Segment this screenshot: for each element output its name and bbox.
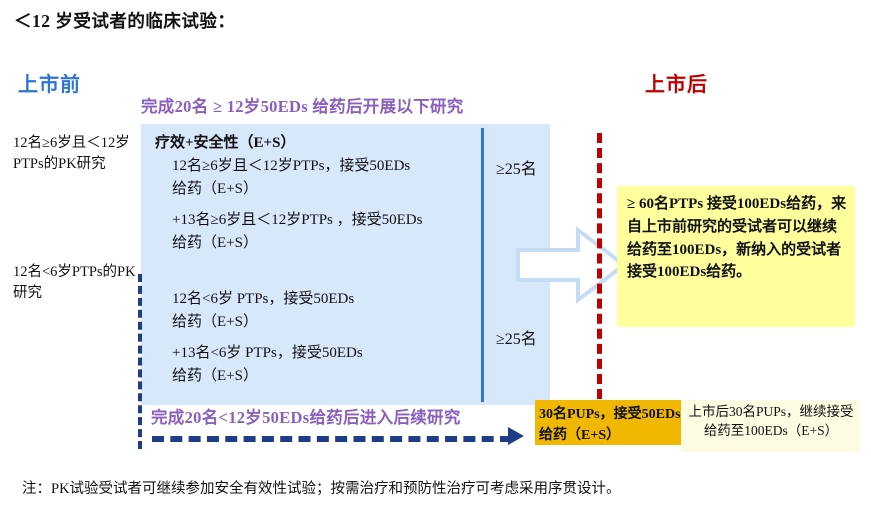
pups-cream-box-text: 上市后30名PUPs，继续接受给药至100EDs（E+S）: [685, 402, 857, 440]
panel-block-4: +13名<6岁 PTPs，接受50EDs给药（E+S）: [172, 342, 363, 388]
stage-label-pre-market: 上市前: [18, 68, 81, 97]
panel-count-1: ≥25名: [496, 155, 537, 179]
right-arrow-icon: [516, 224, 626, 306]
pk-study-label-2: 12名<6岁PTPs的PK研究: [13, 262, 138, 304]
navy-dashed-vertical-line: [138, 274, 142, 449]
slide-canvas: ＜12 岁受试者的临床试验： 上市前 上市后 完成20名 ≥ 12岁50EDs …: [0, 0, 871, 505]
panel-block-3: 12名<6岁 PTPs，接受50EDs给药（E+S）: [172, 288, 354, 334]
footnote-text: 注：PK试验受试者可继续参加安全有效性试验；按需治疗和预防性治疗可考虑采用序贯设…: [22, 477, 621, 498]
purple-heading-bottom: 完成20名<12岁50EDs给药后进入后续研究: [151, 404, 461, 428]
page-title: ＜12 岁受试者的临床试验：: [14, 8, 235, 33]
pk-study-label-1: 12名≥6岁且＜12岁PTPs的PK研究: [13, 133, 138, 175]
panel-block-2: +13名≥6岁且＜12岁PTPs ，接受50EDs给药（E+S）: [172, 209, 422, 255]
bottom-dashed-arrow-head-icon: [508, 427, 524, 445]
red-dashed-vertical-separator: [597, 133, 602, 399]
stage-label-post-market: 上市后: [645, 68, 708, 97]
pups-gold-box-text: 30名PUPs，接受50EDs给药（E+S）: [539, 404, 681, 446]
panel-header-label: 疗效+安全性（E+S）: [155, 131, 295, 152]
purple-heading-top: 完成20名 ≥ 12岁50EDs 给药后开展以下研究: [141, 93, 464, 117]
panel-count-2: ≥25名: [496, 325, 537, 349]
bottom-dashed-arrow-shaft: [152, 436, 512, 442]
panel-vertical-divider: [481, 128, 484, 402]
post-market-box-text: ≥ 60名PTPs 接受100EDs给药，来自上市前研究的受试者可以继续给药至1…: [627, 193, 849, 284]
panel-block-1: 12名≥6岁且＜12岁PTPs，接受50EDs给药（E+S）: [172, 155, 410, 201]
